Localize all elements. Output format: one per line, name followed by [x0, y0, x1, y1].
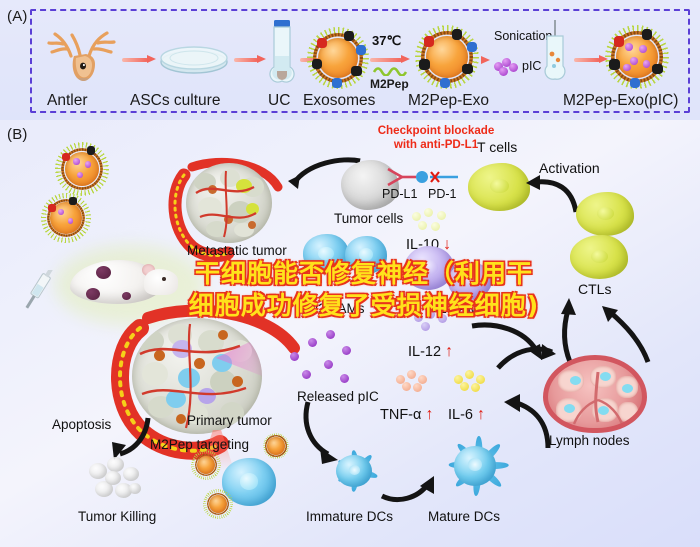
nanoparticle-target-3-icon	[264, 434, 288, 458]
pd1-label: PD-1	[428, 188, 456, 201]
petri-dish-icon	[158, 42, 230, 76]
tumor-killing-icon	[85, 455, 147, 507]
flow-arrow-1	[122, 55, 156, 64]
checkpoint-line-1: Checkpoint blockade	[366, 124, 506, 138]
nanoparticle-1-icon	[58, 145, 106, 193]
temperature-label: 37℃	[372, 34, 401, 47]
tnfa-name: TNF-α	[380, 407, 421, 423]
tnfa-trend: ↑	[425, 406, 433, 423]
syringe-icon	[16, 270, 62, 316]
tnfa-dots-icon	[396, 370, 430, 394]
flow-arrow-5	[574, 55, 608, 64]
primary-tumor-label: Primary tumor	[187, 414, 272, 428]
tumor-killing-label: Tumor Killing	[78, 510, 156, 524]
nanoparticle-target-1-icon	[193, 452, 219, 478]
apoptosis-label: Apoptosis	[52, 418, 111, 432]
step-label-asc: ASCs culture	[130, 93, 220, 109]
il12-name: IL-12	[408, 344, 441, 360]
nanoparticle-2-icon	[44, 196, 88, 240]
panel-b-tag: (B)	[7, 126, 28, 143]
panel-a: (A)	[0, 0, 700, 120]
flow-arrow-4	[370, 55, 410, 64]
ctl-cell-icon-1	[576, 192, 634, 236]
exosome-icon	[310, 30, 366, 86]
il12-trend: ↑	[445, 343, 453, 360]
m2pep-label: M2Pep	[370, 78, 409, 90]
immature-dc-icon	[320, 440, 388, 502]
peptide-exosome-icon	[418, 28, 476, 86]
pic-label: pIC	[522, 60, 541, 73]
panel-a-tag: (A)	[7, 8, 28, 25]
loaded-exosome-icon	[608, 28, 666, 86]
deer-antler-icon	[45, 22, 123, 84]
il10-dots-icon	[412, 208, 452, 238]
step-label-antler: Antler	[47, 93, 88, 109]
pic-dots-icon	[494, 58, 518, 74]
m2-tam-cell-icon-2	[345, 236, 387, 274]
tumor-cells-label: Tumor cells	[334, 212, 403, 226]
m2pep-targeting-label: M2Pep targeting	[150, 438, 249, 452]
il6-trend: ↑	[477, 406, 485, 423]
step-label-uc: UC	[268, 93, 290, 109]
cytokine-il12: IL-12 ↑	[408, 343, 453, 361]
step-label-m2pepexopic: M2Pep-Exo(pIC)	[563, 93, 678, 109]
pdl1-label: PD-L1	[382, 188, 417, 201]
lymph-node-icon	[543, 355, 647, 433]
flow-arrow-2	[234, 55, 266, 64]
nanoparticle-target-2-icon	[205, 491, 231, 517]
ctl-cell-icon-2	[570, 235, 628, 279]
step-label-exosomes: Exosomes	[303, 93, 375, 109]
il6-dots-icon	[454, 370, 488, 394]
il12-dots-icon	[414, 310, 454, 338]
ctls-label: CTLs	[578, 282, 611, 296]
il6-name: IL-6	[448, 407, 473, 423]
arrow-immature-to-mature-dc	[380, 470, 442, 504]
metastatic-tumor-label: Metastatic tumor	[187, 244, 287, 258]
lymph-nodes-label: Lymph nodes	[549, 434, 630, 448]
immature-dcs-label: Immature DCs	[306, 510, 393, 524]
mature-dcs-label: Mature DCs	[428, 510, 500, 524]
released-pic-dots-icon	[290, 330, 360, 390]
figure-root: (A)	[0, 0, 700, 547]
cytokine-tnfa: TNF-α ↑	[380, 406, 433, 424]
metastatic-tumor-icon	[186, 163, 290, 255]
m2-tam-cell-icon-1	[303, 234, 349, 274]
sonicator-tube-icon	[542, 20, 568, 82]
centrifuge-tube-icon	[268, 18, 296, 84]
arrow-activation	[518, 170, 582, 220]
m2pep-squiggle-icon	[372, 64, 412, 76]
t-cells-label: T cells	[477, 140, 517, 154]
step-label-m2pepexo: M2Pep-Exo	[408, 93, 489, 109]
cytokine-il6: IL-6 ↑	[448, 406, 485, 424]
